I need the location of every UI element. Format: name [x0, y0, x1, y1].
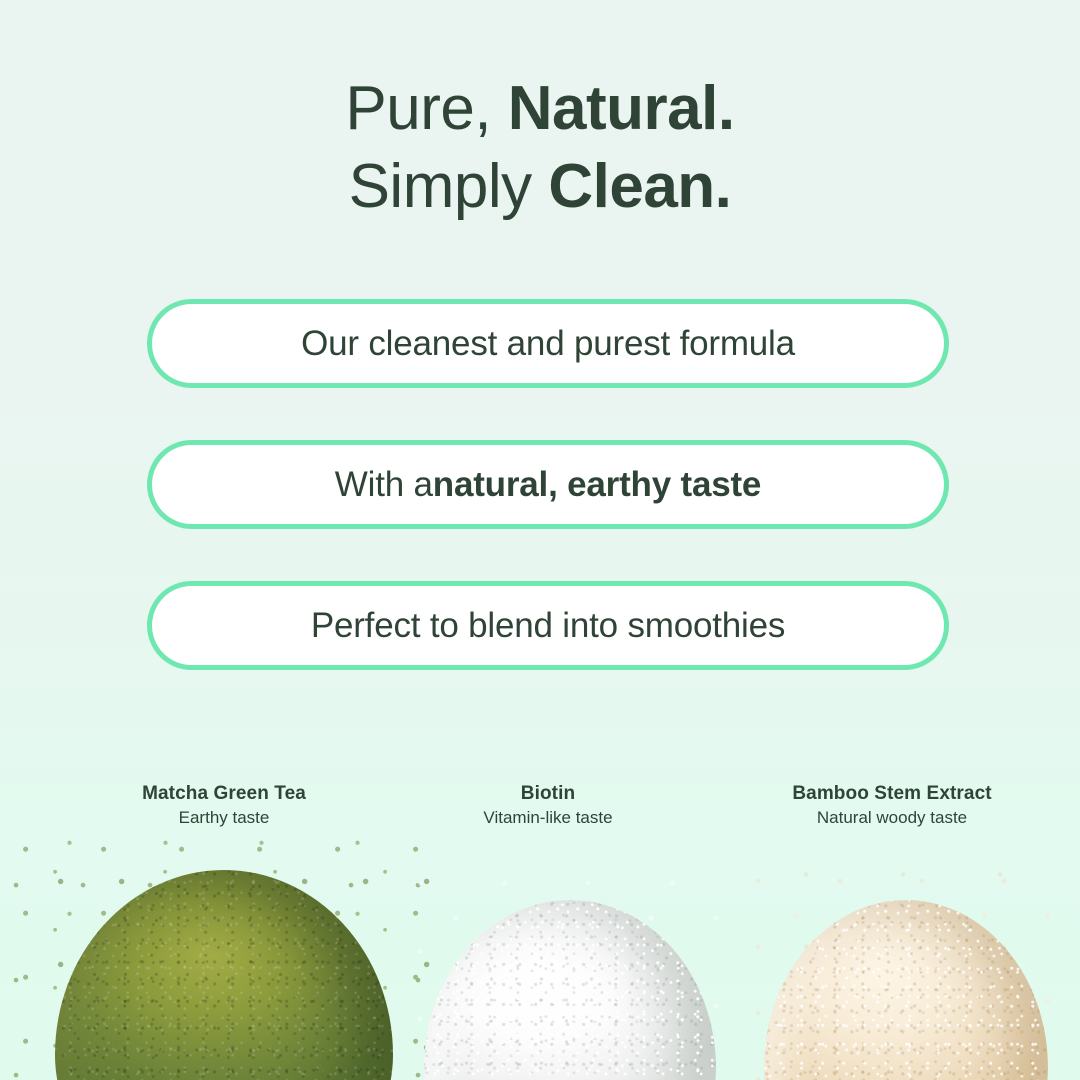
ingredient-label-matcha-green-tea: Matcha Green Tea Earthy taste [54, 782, 394, 830]
bamboo-powder-scatter [740, 860, 1080, 1080]
ingredient-name: Biotin [378, 782, 718, 806]
powder-grain-texture [764, 900, 1048, 1080]
biotin-powder-scatter [400, 860, 740, 1080]
ingredient-name: Bamboo Stem Extract [722, 782, 1062, 806]
ingredient-label-biotin: Biotin Vitamin-like taste [378, 782, 718, 830]
powder-grain-texture [424, 900, 716, 1080]
headline-line-2-bold: Clean. [548, 152, 731, 221]
ingredient-taste: Natural woody taste [722, 806, 1062, 830]
ingredient-label-bamboo-stem-extract: Bamboo Stem Extract Natural woody taste [722, 782, 1062, 830]
headline-line-1-regular: Pure, [345, 74, 507, 143]
powder-grain-texture [55, 870, 393, 1080]
matcha-powder-scatter [10, 830, 440, 1080]
matcha-powder-pile [55, 870, 393, 1080]
headline-line-2-regular: Simply [349, 152, 549, 221]
ingredient-taste: Earthy taste [54, 806, 394, 830]
benefit-pill-1-regular: Our cleanest and purest formula [301, 324, 795, 364]
ingredient-label-row: Matcha Green Tea Earthy taste Biotin Vit… [0, 782, 1080, 842]
ingredient-taste: Vitamin-like taste [378, 806, 718, 830]
bamboo-powder-pile [764, 900, 1048, 1080]
product-benefits-graphic: Pure, Natural. Simply Clean. Our cleanes… [0, 0, 1080, 1080]
benefit-pill-1: Our cleanest and purest formula [147, 299, 949, 388]
benefit-pill-2-bold: natural, earthy taste [433, 465, 761, 505]
page-title: Pure, Natural. Simply Clean. [0, 70, 1080, 226]
benefit-pill-list: Our cleanest and purest formula With a n… [147, 299, 949, 722]
headline-line-2: Simply Clean. [0, 148, 1080, 226]
benefit-pill-2-regular: With a [335, 465, 433, 505]
benefit-pill-3: Perfect to blend into smoothies [147, 581, 949, 670]
benefit-pill-3-regular: Perfect to blend into smoothies [311, 606, 785, 646]
headline-line-1-bold: Natural. [508, 74, 735, 143]
biotin-powder-pile [424, 900, 716, 1080]
ingredient-name: Matcha Green Tea [54, 782, 394, 806]
headline-line-1: Pure, Natural. [0, 70, 1080, 148]
benefit-pill-2: With a natural, earthy taste [147, 440, 949, 529]
